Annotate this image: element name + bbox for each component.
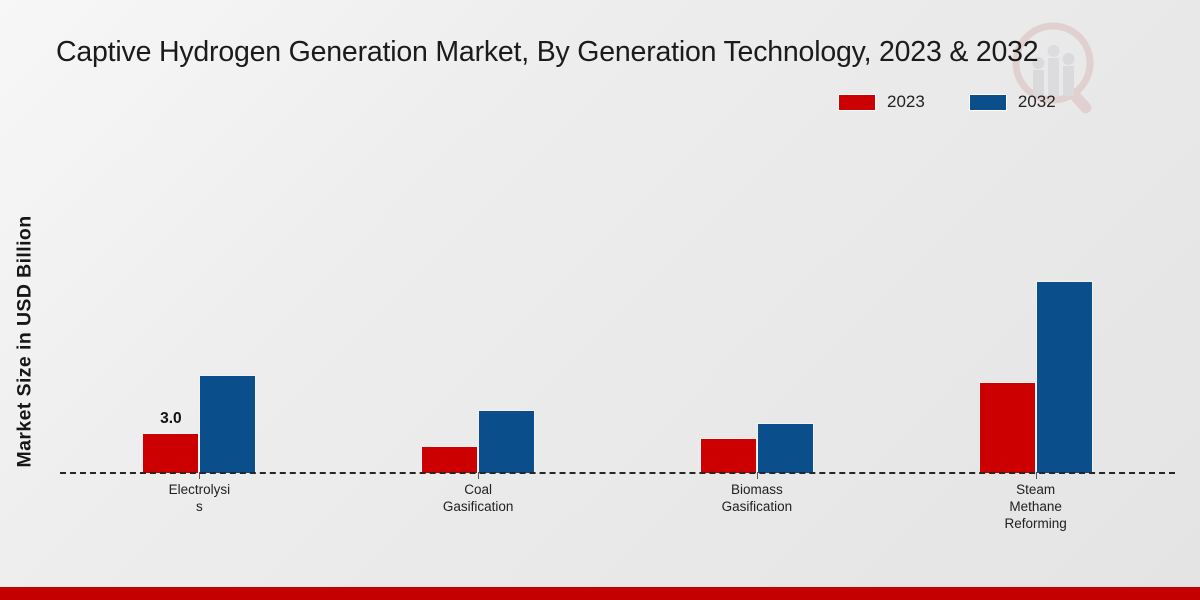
x-tick-line: Biomass <box>731 482 783 497</box>
legend-swatch-2023 <box>838 94 876 111</box>
tick-mark-icon <box>757 472 758 479</box>
bar-2023-electrolysis[interactable]: 3.0 <box>142 433 199 473</box>
x-tick-label-steam-methane-reforming: Steam Methane Reforming <box>988 481 1084 532</box>
x-tick-line: Gasification <box>443 499 514 514</box>
bar-group-coal-gasification <box>339 150 618 473</box>
legend-label-2023: 2023 <box>887 92 925 112</box>
tick-mark-icon <box>478 472 479 479</box>
tick-mark-icon <box>199 472 200 479</box>
tick-mark-icon <box>1036 472 1037 479</box>
bar-2023-steam-methane-reforming[interactable] <box>979 382 1036 473</box>
chart-canvas: Captive Hydrogen Generation Market, By G… <box>0 0 1200 600</box>
legend-label-2032: 2032 <box>1018 92 1056 112</box>
x-tick-steam-methane-reforming: Steam Methane Reforming <box>896 472 1175 542</box>
x-tick-line: Steam <box>1016 482 1055 497</box>
x-tick-biomass-gasification: Biomass Gasification <box>618 472 897 542</box>
legend-item-2023[interactable]: 2023 <box>838 92 925 112</box>
bar-2032-coal-gasification[interactable] <box>478 410 535 473</box>
bar-2023-coal-gasification[interactable] <box>421 446 478 473</box>
bar-2023-biomass-gasification[interactable] <box>700 438 757 473</box>
x-tick-line: Electrolysi <box>169 482 231 497</box>
bar-group-steam-methane-reforming <box>896 150 1175 473</box>
x-tick-label-electrolysis: Electrolysi s <box>151 481 247 515</box>
x-tick-line: s <box>196 499 203 514</box>
chart-title: Captive Hydrogen Generation Market, By G… <box>56 36 1038 69</box>
x-tick-line: Gasification <box>722 499 793 514</box>
legend-swatch-2032 <box>969 94 1007 111</box>
x-tick-line: Reforming <box>1004 516 1066 531</box>
bar-value-2023-electrolysis: 3.0 <box>160 410 182 428</box>
x-tick-label-biomass-gasification: Biomass Gasification <box>709 481 805 515</box>
bar-2032-biomass-gasification[interactable] <box>757 423 814 473</box>
bar-2032-electrolysis[interactable] <box>199 375 256 473</box>
chart-legend: 2023 2032 <box>838 92 1056 112</box>
bar-group-electrolysis: 3.0 <box>60 150 339 473</box>
x-tick-electrolysis: Electrolysi s <box>60 472 339 542</box>
footer-accent-bar <box>0 587 1200 600</box>
legend-item-2032[interactable]: 2032 <box>969 92 1056 112</box>
x-tick-coal-gasification: Coal Gasification <box>339 472 618 542</box>
bar-2032-steam-methane-reforming[interactable] <box>1036 281 1093 473</box>
x-axis-tick-labels: Electrolysi s Coal Gasification Biomass … <box>60 472 1175 542</box>
x-tick-line: Methane <box>1009 499 1062 514</box>
y-axis-title: Market Size in USD Billion <box>14 172 37 512</box>
x-tick-label-coal-gasification: Coal Gasification <box>430 481 526 515</box>
plot-area: 3.0 <box>60 150 1175 473</box>
bar-group-biomass-gasification <box>618 150 897 473</box>
x-tick-line: Coal <box>464 482 492 497</box>
